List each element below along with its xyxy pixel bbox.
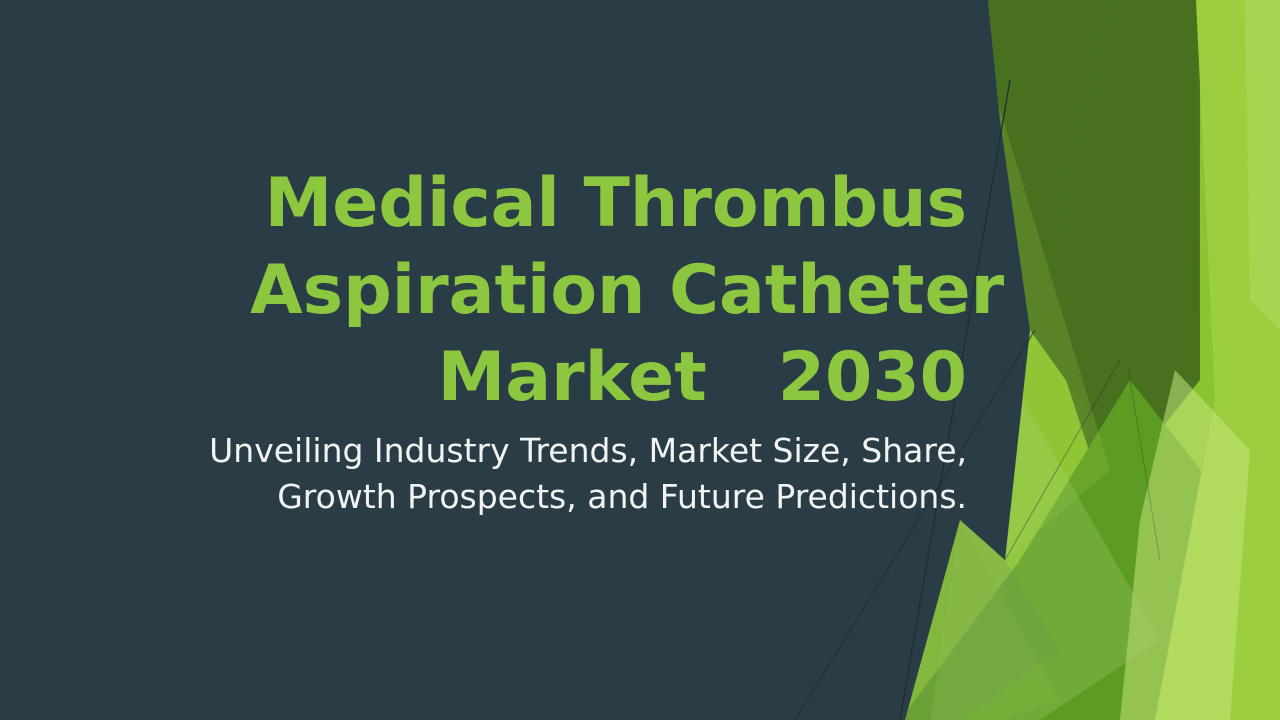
title-line-2: Aspiration Catheter	[250, 247, 967, 334]
title-slide: Medical Thrombus Aspiration Catheter Mar…	[0, 0, 1280, 720]
page-subtitle: Unveiling Industry Trends, Market Size, …	[190, 428, 967, 520]
slide-text-layer: Medical Thrombus Aspiration Catheter Mar…	[0, 0, 1280, 720]
subtitle-line-2: Growth Prospects, and Future Predictions…	[190, 474, 967, 520]
title-line-1: Medical Thrombus	[250, 160, 967, 247]
page-title: Medical Thrombus Aspiration Catheter Mar…	[250, 160, 967, 421]
subtitle-line-1: Unveiling Industry Trends, Market Size, …	[190, 428, 967, 474]
title-line-3: Market 2030	[250, 334, 967, 421]
